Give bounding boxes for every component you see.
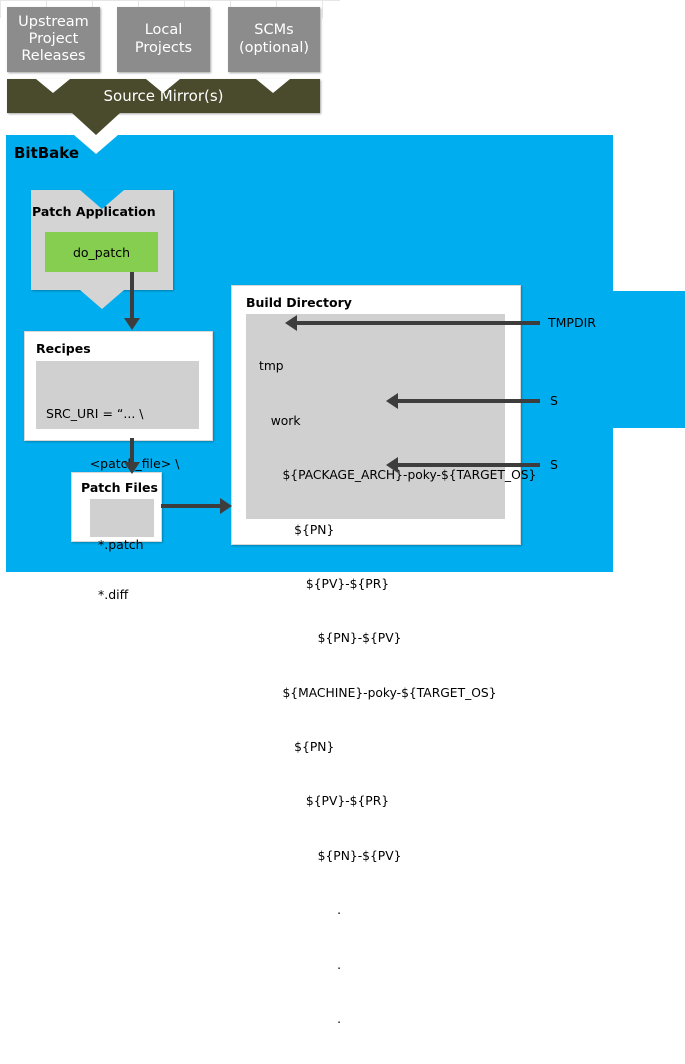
mirror-notch-icon-2 [146, 79, 180, 93]
mirror-notch-icon-3 [256, 79, 290, 93]
patch-files-list-block: *.patch *.diff [90, 499, 154, 537]
source-box-label: Upstream Project Releases [14, 14, 93, 65]
s-label-2: S [550, 457, 558, 472]
build-directory-tree: tmp work ${PACKAGE_ARCH}-poky-${TARGET_O… [259, 320, 536, 1064]
recipes-code-block: SRC_URI = “... \ <patch_file> \ ...” [36, 361, 199, 429]
source-box-label: SCMs (optional) [235, 22, 313, 56]
tree-line: . [259, 1010, 536, 1027]
patch-files-panel: Patch Files *.patch *.diff [71, 472, 162, 542]
arrow-s-1 [398, 399, 540, 403]
arrow-tmpdir-head-icon [285, 315, 297, 331]
recipes-code-line: <patch_file> \ [46, 456, 179, 473]
arrow-dopatch-to-recipes [130, 272, 134, 320]
tmpdir-label: TMPDIR [548, 315, 596, 330]
source-box-upstream-project-releases: Upstream Project Releases [7, 7, 100, 72]
tree-line: ${MACHINE}-poky-${TARGET_OS} [259, 684, 536, 701]
arrow-s-2-head-icon [386, 457, 398, 473]
mirror-notch-icon-1 [36, 79, 70, 93]
tree-line: . [259, 901, 536, 918]
tree-line: ${PV}-${PR} [259, 575, 536, 592]
recipes-title: Recipes [36, 341, 91, 356]
recipes-code-line: SRC_URI = “... \ [46, 406, 179, 423]
tree-line: . [259, 956, 536, 973]
tree-line: tmp [259, 357, 536, 374]
recipes-panel: Recipes SRC_URI = “... \ <patch_file> \ … [24, 331, 213, 441]
mirror-point-icon [72, 113, 120, 135]
arrow-s-2 [398, 463, 540, 467]
tree-line: ${PN}-${PV} [259, 629, 536, 646]
do-patch-task[interactable]: do_patch [45, 232, 158, 272]
arrow-patch-files-to-build-dir [161, 504, 222, 508]
do-patch-label: do_patch [73, 245, 130, 260]
source-box-scms-optional: SCMs (optional) [228, 7, 320, 72]
patch-application-bottom-point-icon [80, 290, 124, 309]
arrow-recipes-to-patch-files-head-icon [124, 462, 140, 474]
patch-application-title: Patch Application [32, 204, 156, 219]
patch-files-title: Patch Files [81, 480, 158, 495]
s-label-1: S [550, 393, 558, 408]
patch-files-item: *.diff [98, 587, 144, 604]
patch-files-item: *.patch [98, 537, 144, 554]
arrow-dopatch-to-recipes-head-icon [124, 318, 140, 330]
bitbake-region-extension [600, 291, 685, 428]
tree-line: ${PV}-${PR} [259, 792, 536, 809]
source-box-local-projects: Local Projects [117, 7, 210, 72]
bitbake-top-notch-icon [74, 135, 118, 154]
arrow-s-1-head-icon [386, 393, 398, 409]
diagram-canvas: BitBake Upstream Project Releases Local … [0, 0, 685, 576]
arrow-patch-files-to-build-dir-head-icon [220, 498, 232, 514]
build-directory-tree-block: tmp work ${PACKAGE_ARCH}-poky-${TARGET_O… [246, 314, 505, 519]
patch-files-list: *.patch *.diff [98, 503, 144, 638]
tree-line: work [259, 412, 536, 429]
tree-line: ${PN} [259, 738, 536, 755]
tree-line: ${PN} [259, 521, 536, 538]
tree-line: ${PN}-${PV} [259, 847, 536, 864]
bitbake-label: BitBake [14, 144, 79, 162]
build-directory-title: Build Directory [246, 295, 352, 310]
source-box-label: Local Projects [131, 22, 196, 56]
arrow-tmpdir [297, 321, 540, 325]
